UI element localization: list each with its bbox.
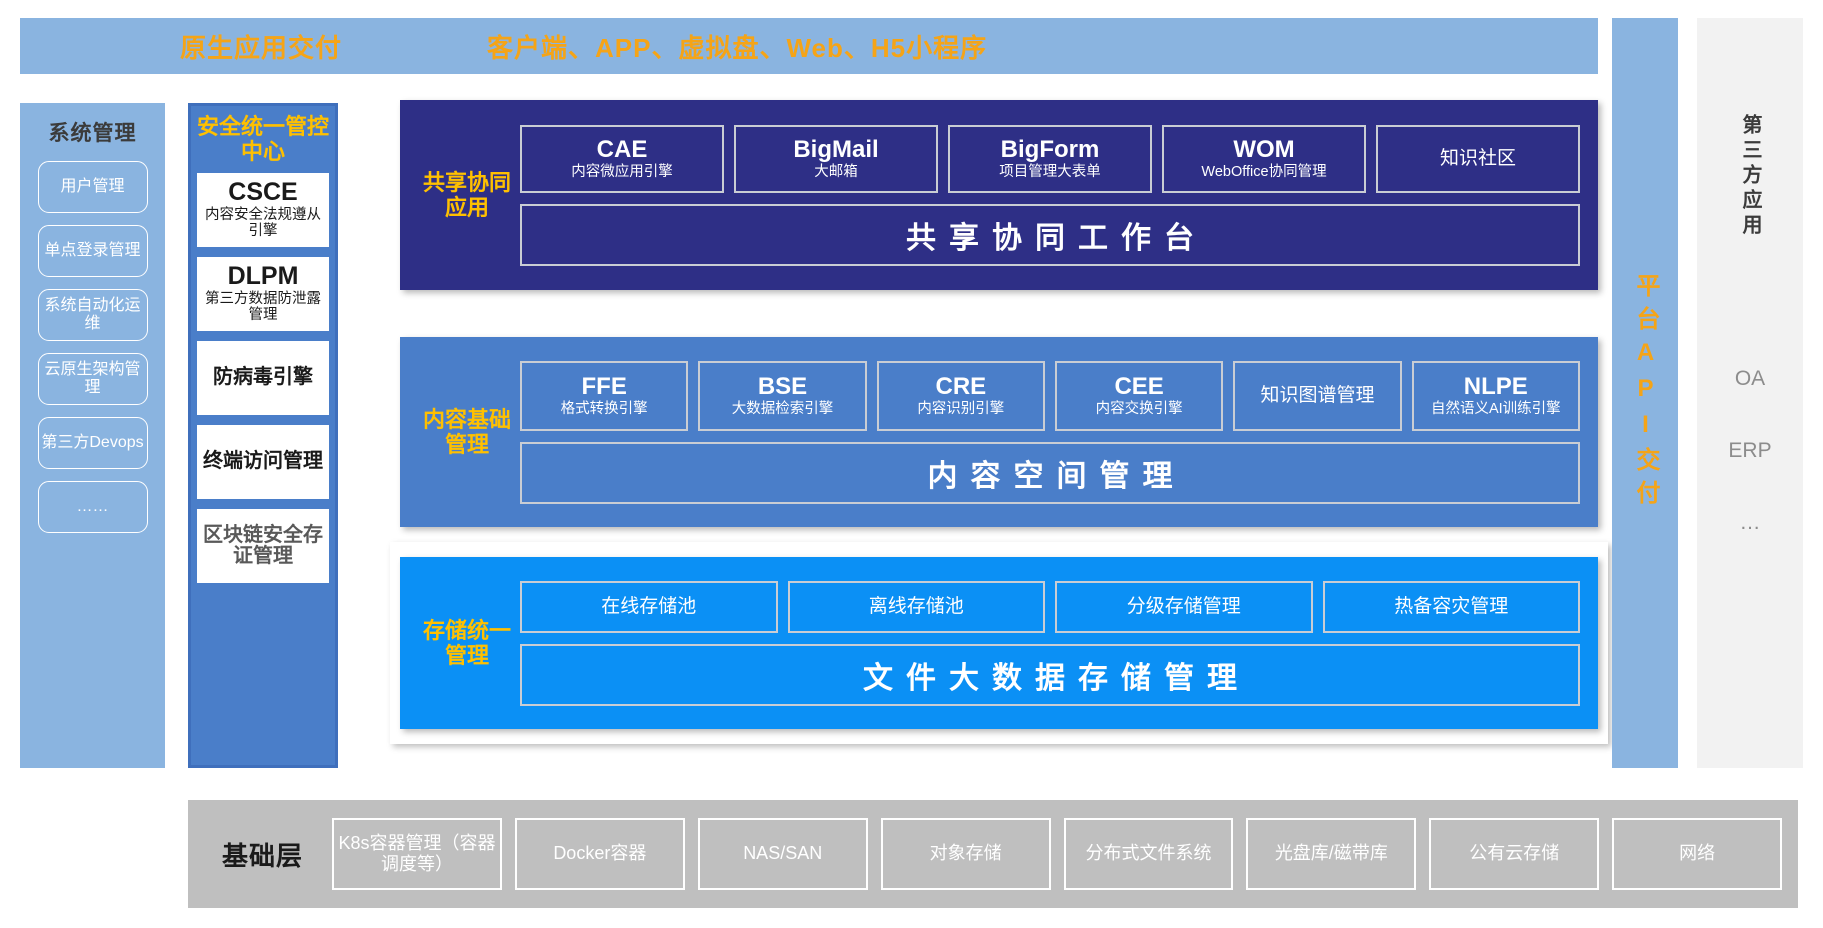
- chip-bigform-desc: 项目管理大表单: [999, 164, 1101, 180]
- infra-item-network[interactable]: 网络: [1612, 818, 1782, 890]
- native-app-delivery-bar: 原生应用交付 客户端、APP、虚拟盘、Web、H5小程序: [20, 18, 1598, 74]
- chip-bigmail-code: BigMail: [793, 136, 878, 163]
- security-item-dlpm-desc: 第三方数据防泄露管理: [200, 291, 326, 324]
- security-item-antivirus[interactable]: 防病毒引擎: [197, 341, 329, 415]
- chip-wom-desc: WebOffice协同管理: [1201, 164, 1326, 180]
- file-bigdata-storage-bar[interactable]: 文件大数据存储管理: [520, 644, 1580, 706]
- platform-api-label: 平台API交付: [1633, 273, 1657, 513]
- system-management-column: 系统管理 用户管理 单点登录管理 系统自动化运维 云原生架构管理 第三方Devo…: [20, 103, 165, 768]
- chip-bse[interactable]: BSE 大数据检索引擎: [698, 361, 866, 431]
- sysmgmt-item-more[interactable]: ……: [38, 481, 148, 533]
- security-item-antivirus-code: 防病毒引擎: [213, 367, 313, 388]
- security-item-terminal-access[interactable]: 终端访问管理: [197, 425, 329, 499]
- chip-wom-code: WOM: [1233, 136, 1294, 163]
- infra-item-k8s[interactable]: K8s容器管理（容器调度等）: [332, 818, 502, 890]
- chip-cee[interactable]: CEE 内容交换引擎: [1055, 361, 1223, 431]
- chip-knowledge-community[interactable]: 知识社区: [1376, 125, 1580, 193]
- storage-unified-management-panel: 存储统一管理 在线存储池 离线存储池 分级存储管理 热备容灾管理 文件大数据存储…: [400, 557, 1598, 729]
- infra-item-docker[interactable]: Docker容器: [515, 818, 685, 890]
- chip-bigform[interactable]: BigForm 项目管理大表单: [948, 125, 1152, 193]
- sysmgmt-item-cloud-native[interactable]: 云原生架构管理: [38, 353, 148, 405]
- share-collaboration-side-label: 共享协同应用: [414, 170, 520, 220]
- platform-api-delivery-column: 平台API交付: [1612, 18, 1678, 768]
- storage-unified-side-label: 存储统一管理: [414, 618, 520, 668]
- chip-cae[interactable]: CAE 内容微应用引擎: [520, 125, 724, 193]
- chip-nlpe-code: NLPE: [1464, 373, 1528, 400]
- chip-bigform-code: BigForm: [1001, 136, 1100, 163]
- storage-chip-row: 在线存储池 离线存储池 分级存储管理 热备容灾管理: [520, 581, 1580, 633]
- infra-item-public-cloud[interactable]: 公有云存储: [1429, 818, 1599, 890]
- third-party-item-more[interactable]: …: [1740, 511, 1761, 535]
- infra-item-object-storage[interactable]: 对象存储: [881, 818, 1051, 890]
- chip-offline-storage-pool[interactable]: 离线存储池: [788, 581, 1046, 633]
- chip-tiered-storage[interactable]: 分级存储管理: [1055, 581, 1313, 633]
- infra-item-optical-tape[interactable]: 光盘库/磁带库: [1246, 818, 1416, 890]
- sysmgmt-item-devops[interactable]: 第三方Devops: [38, 417, 148, 469]
- chip-cre-code: CRE: [935, 373, 986, 400]
- security-item-terminal-access-code: 终端访问管理: [203, 451, 323, 472]
- chip-bigmail[interactable]: BigMail 大邮箱: [734, 125, 938, 193]
- chip-online-storage-pool-code: 在线存储池: [601, 596, 696, 617]
- share-collaboration-chip-row: CAE 内容微应用引擎 BigMail 大邮箱 BigForm 项目管理大表单 …: [520, 125, 1580, 193]
- chip-online-storage-pool[interactable]: 在线存储池: [520, 581, 778, 633]
- sysmgmt-item-automation[interactable]: 系统自动化运维: [38, 289, 148, 341]
- chip-bse-desc: 大数据检索引擎: [732, 401, 834, 417]
- third-party-list: OA ERP …: [1728, 367, 1771, 535]
- system-management-title: 系统管理: [20, 117, 165, 147]
- third-party-item-oa[interactable]: OA: [1735, 367, 1765, 391]
- security-control-center-column: 安全统一管控中心 CSCE 内容安全法规遵从引擎 DLPM 第三方数据防泄露管理…: [188, 103, 338, 768]
- content-base-management-panel: 内容基础管理 FFE 格式转换引擎 BSE 大数据检索引擎 CRE 内容识别引擎…: [400, 337, 1598, 527]
- architecture-diagram: 原生应用交付 客户端、APP、虚拟盘、Web、H5小程序 系统管理 用户管理 单…: [0, 0, 1823, 928]
- chip-cae-code: CAE: [597, 136, 648, 163]
- infrastructure-layer-title: 基础层: [222, 836, 303, 873]
- chip-offline-storage-pool-code: 离线存储池: [869, 596, 964, 617]
- third-party-title: 第三方应用: [1740, 114, 1760, 239]
- chip-nlpe-desc: 自然语义AI训练引擎: [1431, 401, 1561, 417]
- share-collaboration-workbench-bar[interactable]: 共享协同工作台: [520, 204, 1580, 266]
- chip-cae-desc: 内容微应用引擎: [571, 164, 673, 180]
- chip-tiered-storage-code: 分级存储管理: [1127, 596, 1241, 617]
- chip-ffe-code: FFE: [582, 373, 627, 400]
- content-base-side-label: 内容基础管理: [414, 407, 520, 457]
- native-delivery-label: 原生应用交付: [180, 28, 342, 65]
- infrastructure-layer: 基础层 K8s容器管理（容器调度等） Docker容器 NAS/SAN 对象存储…: [188, 800, 1798, 908]
- chip-ffe[interactable]: FFE 格式转换引擎: [520, 361, 688, 431]
- security-item-dlpm-code: DLPM: [228, 263, 299, 289]
- chip-hot-standby-dr[interactable]: 热备容灾管理: [1323, 581, 1581, 633]
- chip-cee-desc: 内容交换引擎: [1096, 401, 1183, 417]
- sysmgmt-item-user[interactable]: 用户管理: [38, 161, 148, 213]
- content-base-chip-row: FFE 格式转换引擎 BSE 大数据检索引擎 CRE 内容识别引擎 CEE 内容…: [520, 361, 1580, 431]
- chip-cre-desc: 内容识别引擎: [917, 401, 1004, 417]
- chip-bse-code: BSE: [758, 373, 807, 400]
- chip-wom[interactable]: WOM WebOffice协同管理: [1162, 125, 1366, 193]
- infra-item-nas-san[interactable]: NAS/SAN: [698, 818, 868, 890]
- share-collaboration-panel: 共享协同应用 CAE 内容微应用引擎 BigMail 大邮箱 BigForm 项…: [400, 100, 1598, 290]
- infra-item-distributed-fs[interactable]: 分布式文件系统: [1064, 818, 1234, 890]
- security-center-title: 安全统一管控中心: [191, 114, 335, 165]
- security-item-blockchain-code: 区块链安全存证管理: [202, 525, 324, 567]
- chip-bigmail-desc: 大邮箱: [814, 164, 858, 180]
- chip-cee-code: CEE: [1114, 373, 1163, 400]
- security-item-csce[interactable]: CSCE 内容安全法规遵从引擎: [197, 173, 329, 247]
- security-item-csce-code: CSCE: [228, 179, 297, 205]
- content-space-management-bar[interactable]: 内容空间管理: [520, 442, 1580, 504]
- chip-nlpe[interactable]: NLPE 自然语义AI训练引擎: [1412, 361, 1580, 431]
- chip-cre[interactable]: CRE 内容识别引擎: [877, 361, 1045, 431]
- chip-hot-standby-dr-code: 热备容灾管理: [1394, 596, 1508, 617]
- sysmgmt-item-sso[interactable]: 单点登录管理: [38, 225, 148, 277]
- security-item-csce-desc: 内容安全法规遵从引擎: [200, 207, 326, 240]
- security-item-dlpm[interactable]: DLPM 第三方数据防泄露管理: [197, 257, 329, 331]
- chip-knowledge-community-code: 知识社区: [1440, 148, 1516, 169]
- third-party-item-erp[interactable]: ERP: [1728, 439, 1771, 463]
- chip-ffe-desc: 格式转换引擎: [561, 401, 648, 417]
- chip-knowledge-graph[interactable]: 知识图谱管理: [1233, 361, 1401, 431]
- chip-knowledge-graph-code: 知识图谱管理: [1260, 385, 1374, 406]
- security-item-blockchain[interactable]: 区块链安全存证管理: [197, 509, 329, 583]
- third-party-apps-column: 第三方应用 OA ERP …: [1697, 18, 1803, 768]
- client-channels-label: 客户端、APP、虚拟盘、Web、H5小程序: [487, 28, 987, 65]
